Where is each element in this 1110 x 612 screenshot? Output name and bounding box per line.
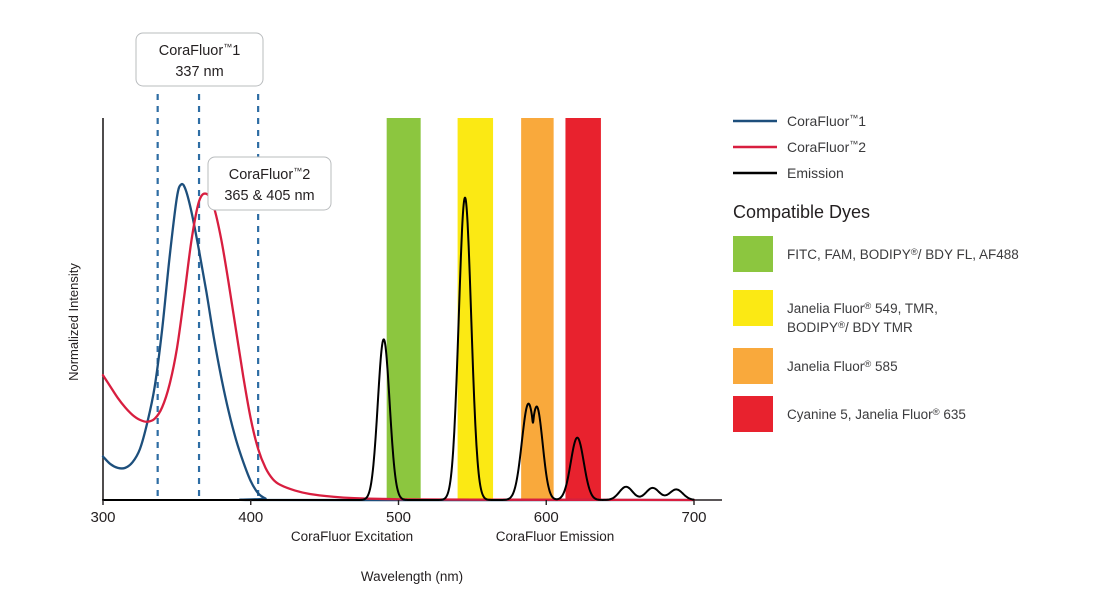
dye-swatch-1	[733, 290, 773, 326]
dye-swatch-3	[733, 396, 773, 432]
axis-section-label-1: CoraFluor Emission	[496, 529, 615, 544]
x-tick-label-300: 300	[90, 509, 115, 526]
x-tick-label-500: 500	[386, 509, 411, 526]
x-axis-title: Wavelength (nm)	[361, 569, 463, 584]
dye-label-3-line-0: Cyanine 5, Janelia Fluor® 635	[787, 407, 966, 422]
dye-label-0-line-0: FITC, FAM, BODIPY®/ BDY FL, AF488	[787, 247, 1019, 262]
y-axis-title: Normalized Intensity	[66, 263, 81, 381]
callout-coraFluor1-line2: 337 nm	[175, 64, 223, 80]
dye-label-1-line-0: Janelia Fluor® 549, TMR,	[787, 301, 938, 316]
x-tick-label-700: 700	[681, 509, 706, 526]
emission-band-group	[387, 118, 601, 500]
compatible-dyes-heading: Compatible Dyes	[733, 202, 870, 222]
orange-band	[521, 118, 554, 500]
dye-label-1-line-1: BODIPY®/ BDY TMR	[787, 320, 913, 335]
legend-label-1: CoraFluor™2	[787, 139, 866, 155]
dye-label-2-line-0: Janelia Fluor® 585	[787, 359, 898, 374]
x-tick-label-600: 600	[534, 509, 559, 526]
spectra-figure: 300400500600700 CoraFluor ExcitationCora…	[0, 0, 1110, 612]
legend-label-0: CoraFluor™1	[787, 113, 866, 129]
legend: CoraFluor™1CoraFluor™2EmissionCompatible…	[733, 113, 1019, 432]
callout-coraFluor1: CoraFluor™1337 nm	[136, 33, 263, 86]
dye-swatch-2	[733, 348, 773, 384]
callout-group: CoraFluor™1337 nmCoraFluor™2365 & 405 nm	[136, 33, 331, 210]
legend-label-2: Emission	[787, 165, 844, 181]
callout-coraFluor2-line2: 365 & 405 nm	[224, 188, 314, 204]
axis-section-labels: CoraFluor ExcitationCoraFluor Emission	[291, 529, 614, 544]
dye-swatch-0	[733, 236, 773, 272]
x-tick-label-400: 400	[238, 509, 263, 526]
x-axis-ticks: 300400500600700	[90, 500, 706, 526]
axis-section-label-0: CoraFluor Excitation	[291, 529, 413, 544]
callout-coraFluor2: CoraFluor™2365 & 405 nm	[208, 157, 331, 210]
red-band	[565, 118, 600, 500]
